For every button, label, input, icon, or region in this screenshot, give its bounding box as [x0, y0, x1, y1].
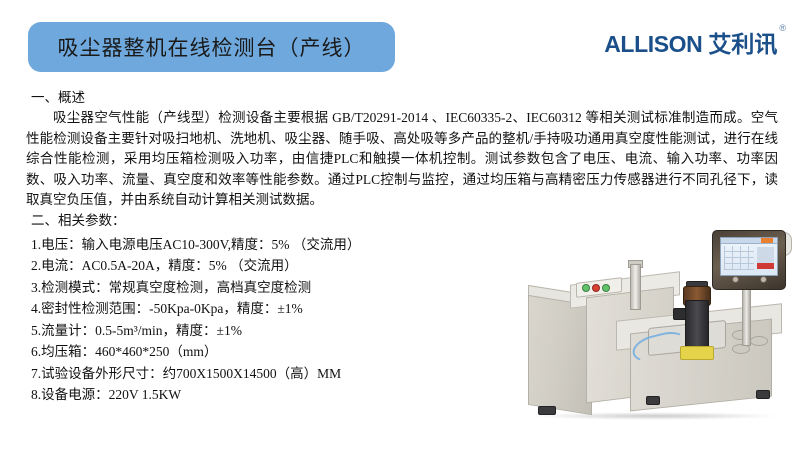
section-heading-parameters: 二、相关参数：: [31, 211, 778, 230]
logo-cjk-text: 艾利讯: [708, 33, 777, 56]
equipment-photo: [520, 228, 800, 428]
emergency-stop-button: [592, 284, 600, 292]
title-banner: 吸尘器整机在线检测台（产线）: [28, 22, 395, 72]
hmi-button-left[interactable]: [732, 276, 739, 283]
logo-latin-text: ALLISON: [604, 33, 702, 56]
orifice-plate-hole: [750, 336, 768, 346]
indicator-lamp-green: [602, 284, 610, 292]
section-heading-overview: 一、概述: [31, 88, 778, 107]
vacuum-unit-body: [685, 300, 709, 350]
hmi-data-table: [724, 246, 754, 270]
hmi-menu-bar: [721, 238, 777, 244]
left-cabinet: [528, 295, 592, 415]
machine-foot: [756, 390, 770, 399]
slide-root: 吸尘器整机在线检测台（产线） ALLISON 艾利讯 ® 一、概述 吸尘器空气性…: [0, 0, 800, 450]
hmi-touchscreen[interactable]: [720, 237, 778, 276]
hmi-button-right[interactable]: [760, 276, 767, 283]
machine-foot: [538, 406, 556, 415]
machine-foot: [646, 396, 660, 405]
page-title: 吸尘器整机在线检测台（产线）: [58, 32, 366, 62]
machine-shadow: [530, 412, 780, 420]
indicator-lamp-green: [582, 284, 590, 292]
company-logo: ALLISON 艾利讯 ®: [604, 33, 786, 56]
hmi-active-tab: [761, 238, 773, 243]
pneumatic-cylinder: [630, 264, 641, 310]
vacuum-unit-base: [680, 346, 714, 360]
hmi-bar-chart: [757, 247, 774, 269]
overview-paragraph: 吸尘器空气性能（产线型）检测设备主要根据 GB/T20291-2014 、IEC…: [26, 108, 778, 211]
registered-trademark-icon: ®: [779, 24, 786, 33]
